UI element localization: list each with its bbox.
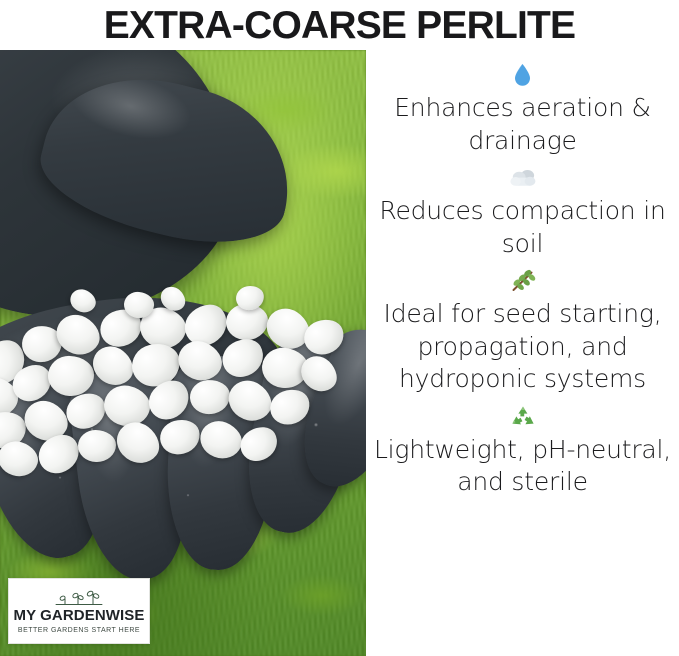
- perlite-pile: [0, 286, 364, 476]
- recycling-icon: [506, 402, 540, 432]
- herb-sprig-icon: [506, 266, 540, 296]
- sprouts-icon: [52, 589, 106, 607]
- perlite-chunk: [300, 314, 349, 359]
- perlite-chunk: [195, 415, 247, 464]
- benefit-text: Ideal for seed starting, propagation, an…: [370, 298, 675, 396]
- cloud-icon: [506, 163, 540, 193]
- page-title: EXTRA-COARSE PERLITE: [104, 6, 576, 45]
- brand-tagline: BETTER GARDENS START HERE: [18, 627, 140, 634]
- benefit-item: Enhances aeration & drainage: [366, 60, 679, 157]
- benefit-text: Lightweight, pH-neutral, and sterile: [370, 434, 675, 499]
- perlite-chunk: [156, 415, 203, 458]
- perlite-infographic: EXTRA-COARSE PERLITE: [0, 0, 679, 656]
- benefits-list: Enhances aeration & drainage Reduces com…: [366, 50, 679, 656]
- benefit-text: Reduces compaction in soil: [370, 195, 675, 260]
- benefit-item: Reduces compaction in soil: [366, 163, 679, 260]
- perlite-chunk: [265, 384, 314, 430]
- water-droplet-icon: [506, 60, 540, 90]
- perlite-chunk: [234, 420, 283, 467]
- benefit-text: Enhances aeration & drainage: [370, 92, 675, 157]
- perlite-chunk: [0, 437, 42, 481]
- perlite-chunk: [47, 355, 94, 397]
- benefit-item: Lightweight, pH-neutral, and sterile: [366, 402, 679, 499]
- perlite-chunk: [78, 430, 117, 463]
- perlite-chunk: [172, 335, 227, 387]
- perlite-chunk: [216, 332, 270, 384]
- brand-name: MY GARDENWISE: [13, 608, 144, 623]
- perlite-chunk: [66, 285, 99, 316]
- title-bar: EXTRA-COARSE PERLITE: [0, 0, 679, 50]
- product-photo: MY GARDENWISE BETTER GARDENS START HERE: [0, 50, 366, 656]
- brand-logo: MY GARDENWISE BETTER GARDENS START HERE: [8, 578, 150, 644]
- perlite-chunk: [189, 379, 231, 416]
- benefit-item: Ideal for seed starting, propagation, an…: [366, 266, 679, 396]
